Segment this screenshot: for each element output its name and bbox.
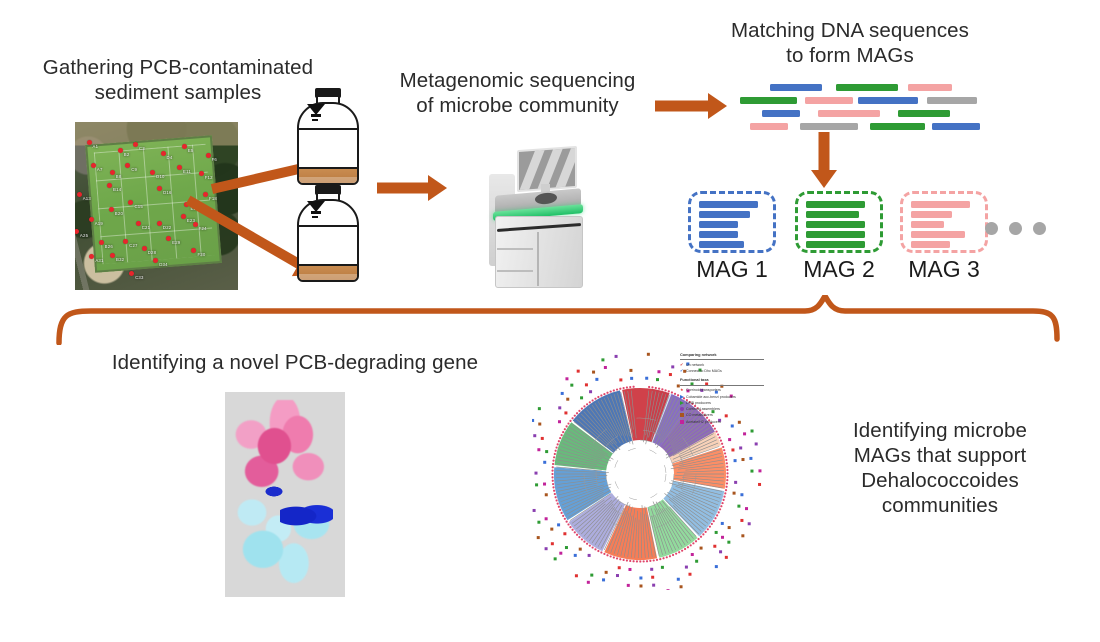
ellipsis-dot (985, 222, 998, 235)
tree-ring-marker (661, 566, 664, 569)
tree-tip-dot (606, 554, 608, 556)
legend-square-icon (680, 413, 684, 417)
tree-ring-marker (700, 547, 703, 550)
tree-tip-dot (723, 449, 725, 451)
tree-tip-dot (613, 389, 615, 391)
tree-tip-dot (552, 483, 554, 485)
tree-ring-marker (585, 383, 588, 386)
tree-tip-dot (677, 394, 679, 396)
protein-highlight-loop (261, 484, 287, 498)
tree-ring-marker (563, 532, 566, 535)
mag-label-2: MAG 2 (795, 256, 883, 283)
tree-ring-marker (551, 542, 554, 545)
mag-contig-bar (806, 221, 865, 228)
tree-ring-marker (743, 432, 746, 435)
tree-ring-marker (734, 459, 737, 462)
tree-tip-dot (623, 387, 625, 389)
tree-tip-dot (671, 391, 673, 393)
tree-tip-dot (726, 476, 728, 478)
legend-check-icon: ✔ (680, 363, 684, 367)
circular-phylogenetic-tree: Comparing network✔Un network✔Connect to … (532, 342, 767, 590)
tree-tip-dot (674, 393, 676, 395)
legend-circle-icon (680, 407, 684, 411)
tree-ring-marker (667, 589, 670, 590)
tree-tip-dot (684, 548, 686, 550)
tree-ring-marker (651, 576, 654, 579)
mag-contig-bar (911, 201, 970, 208)
tree-tip-dot (626, 559, 628, 561)
figure-canvas: Gathering PCB-contaminatedsediment sampl… (0, 0, 1100, 642)
tree-tip-dot (586, 403, 588, 405)
tree-ring-marker (564, 411, 567, 414)
more-mags-ellipsis (985, 222, 1046, 235)
tree-tip-dot (724, 452, 726, 454)
tree-ring-marker (574, 554, 577, 557)
tree-tip-dot (555, 446, 557, 448)
protein-highlight-helix (280, 499, 333, 534)
tree-tip-dot (581, 407, 583, 409)
tree-tip-dot (722, 499, 724, 501)
tree-tip-dot (562, 431, 564, 433)
tree-ring-marker (592, 371, 595, 374)
tree-tip-dot (659, 558, 661, 560)
tree-tip-dot (594, 548, 596, 550)
tree-tip-dot (592, 546, 594, 548)
tree-tip-dot (724, 492, 726, 494)
tree-ring-marker (537, 521, 540, 524)
tree-tip-dot (714, 517, 716, 519)
tree-tip-dot (619, 388, 621, 390)
tree-ring-marker (627, 584, 630, 587)
tree-tip-dot (578, 410, 580, 412)
mag-contig-bar (806, 201, 865, 208)
tree-tip-dot (695, 540, 697, 542)
tree-tip-dot (715, 430, 717, 432)
tree-ring-marker (740, 493, 743, 496)
tree-tip-dot (559, 437, 561, 439)
brace-mags-to-downstream (45, 295, 1065, 345)
tree-ring-marker (657, 370, 660, 373)
tree-ring-marker (734, 481, 737, 484)
tree-ring-marker (719, 550, 722, 553)
tree-tip-dot (583, 405, 585, 407)
tree-tip-dot (610, 555, 612, 557)
tree-ring-marker (628, 568, 631, 571)
tree-tip-dot (555, 499, 557, 501)
tree-tip-dot (643, 560, 645, 562)
tree-ring-marker (538, 423, 541, 426)
tree-tip-dot (576, 534, 578, 536)
tree-ring-marker (535, 472, 538, 475)
tree-tip-dot (716, 514, 718, 516)
legend-star-icon: ★ (680, 388, 684, 392)
mag-contig-bar (699, 231, 738, 238)
tree-ring-marker (758, 469, 761, 472)
tree-ring-marker (740, 519, 743, 522)
mag-contig-bar (699, 211, 750, 218)
tree-ring-marker (566, 398, 569, 401)
tree-ring-marker (639, 584, 642, 587)
tree-tip-dot (629, 386, 631, 388)
tree-ring-marker (721, 536, 724, 539)
tree-ring-marker (749, 457, 752, 460)
tree-tip-dot (675, 553, 677, 555)
tree-ring-marker (587, 581, 590, 584)
tree-tip-dot (578, 536, 580, 538)
tree-tip-dot (553, 456, 555, 458)
tree-ring-marker (691, 553, 694, 556)
tree-ring-marker (758, 483, 761, 486)
tree-tip-dot (623, 559, 625, 561)
tree-tip-dot (726, 472, 728, 474)
tree-tip-dot (574, 415, 576, 417)
tree-ring-marker (619, 378, 622, 381)
tree-ring-marker (755, 442, 758, 445)
tree-tip-dot (561, 434, 563, 436)
tree-ring-marker (615, 355, 618, 358)
tree-internal-arc (606, 440, 674, 508)
mag-group: MAG 1MAG 2MAG 3 (0, 0, 1100, 300)
tree-ring-marker (741, 534, 744, 537)
tree-tip-dot (610, 390, 612, 392)
tree-tip-dot (723, 496, 725, 498)
tree-tip-dot (648, 386, 650, 388)
tree-tip-dot (551, 470, 553, 472)
tree-tip-dot (666, 556, 668, 558)
pcb-degrading-enzyme-ribbon (225, 392, 345, 597)
tree-tip-dot (726, 482, 728, 484)
tree-tip-dot (569, 420, 571, 422)
tree-tip-dot (713, 520, 715, 522)
legend-label: Acetate/H2 producers (686, 419, 721, 425)
tree-tip-dot (566, 521, 568, 523)
mag-contig-bar (806, 241, 865, 248)
tree-tip-dot (551, 473, 553, 475)
mag-contig-bar (699, 221, 738, 228)
tree-tip-dot (649, 560, 651, 562)
tree-tip-dot (672, 554, 674, 556)
tree-tip-dot (581, 538, 583, 540)
tree-ring-marker (543, 461, 546, 464)
tree-ring-marker (558, 420, 561, 423)
tree-tip-dot (639, 560, 641, 562)
tree-ring-marker (731, 448, 734, 451)
tree-ring-marker (741, 458, 744, 461)
tree-ring-marker (751, 429, 754, 432)
caption-line: Dehalococcoides (861, 469, 1019, 492)
tree-tip-dot (555, 450, 557, 452)
caption-line: Identifying microbe (853, 419, 1027, 442)
tree-ring-marker (713, 545, 716, 548)
tree-tip-dot (718, 511, 720, 513)
tree-tip-dot (552, 480, 554, 482)
tree-tip-dot (571, 529, 573, 531)
legend-triangle-icon (680, 401, 684, 405)
caption-line: communities (882, 494, 998, 517)
tree-tip-dot (718, 436, 720, 438)
tree-ring-marker (739, 446, 742, 449)
tree-ring-marker (629, 369, 632, 372)
tree-ring-marker (545, 547, 548, 550)
mag-box-3[interactable] (900, 191, 988, 253)
tree-ring-marker (745, 507, 748, 510)
tree-ring-marker (715, 531, 718, 534)
tree-tip-dot (656, 559, 658, 561)
tree-tip-dot (597, 396, 599, 398)
tree-ring-marker (575, 574, 578, 577)
tree-ring-marker (558, 406, 561, 409)
tree-ring-marker (533, 434, 536, 437)
tree-tip-dot (720, 505, 722, 507)
tree-tip-dot (561, 512, 563, 514)
tree-ring-marker (554, 557, 557, 560)
tree-tip-dot (726, 462, 728, 464)
tree-tip-dot (558, 440, 560, 442)
tree-tip-dot (669, 555, 671, 557)
tree-tip-dot (603, 393, 605, 395)
tree-ring-marker (748, 522, 751, 525)
tree-ring-marker (545, 450, 548, 453)
legend-triangle-icon (680, 395, 684, 399)
tree-tip-dot (722, 446, 724, 448)
tree-ring-marker (669, 373, 672, 376)
tree-tip-dot (569, 526, 571, 528)
tree-tip-dot (681, 550, 683, 552)
ellipsis-dot (1009, 222, 1022, 235)
tree-ring-marker (677, 578, 680, 581)
tree-ring-marker (579, 548, 582, 551)
tree-tip-dot (594, 398, 596, 400)
tree-tip-dot (629, 560, 631, 562)
tree-tip-dot (567, 523, 569, 525)
tree-tip-dot (606, 392, 608, 394)
caption-step4: Identifying a novel PCB-degrading gene (55, 350, 535, 375)
tree-tip-dot (721, 443, 723, 445)
tree-tip-dot (709, 526, 711, 528)
tree-tip-dot (552, 466, 554, 468)
tree-ring-marker (605, 571, 608, 574)
tree-ring-marker (565, 377, 568, 380)
tree-tip-dot (600, 394, 602, 396)
tree-tip-dot (725, 486, 727, 488)
tree-tip-dot (552, 486, 554, 488)
mag-contig-bar (806, 231, 865, 238)
tree-tip-dot (586, 543, 588, 545)
tree-tip-dot (725, 489, 727, 491)
tree-tip-dot (721, 502, 723, 504)
tree-tip-dot (726, 479, 728, 481)
tree-ring-marker (652, 584, 655, 587)
tree-tip-dot (619, 558, 621, 560)
tree-ring-marker (545, 493, 548, 496)
mag-label-3: MAG 3 (900, 256, 988, 283)
tree-tip-dot (668, 390, 670, 392)
mag-contig-bar (699, 241, 744, 248)
legend-heading: Comparing network (680, 352, 764, 360)
tree-ring-marker (589, 390, 592, 393)
tree-tip-dot (653, 559, 655, 561)
tree-ring-marker (570, 384, 573, 387)
tree-ring-marker (639, 576, 642, 579)
tree-tip-dot (707, 528, 709, 530)
tree-tip-dot (678, 551, 680, 553)
legend-label: Connect to Dhc MAGs (686, 368, 722, 374)
tree-tip-dot (564, 428, 566, 430)
tree-tip-dot (597, 550, 599, 552)
tree-tip-dot (554, 493, 556, 495)
tree-ring-marker (537, 536, 540, 539)
tree-tip-dot (725, 456, 727, 458)
tree-ring-marker (602, 578, 605, 581)
tree-ring-marker (559, 552, 562, 555)
tree-tip-dot (574, 531, 576, 533)
mag-label-1: MAG 1 (688, 256, 776, 283)
tree-tip-dot (711, 523, 713, 525)
tree-tip-dot (571, 417, 573, 419)
tree-tip-dot (552, 460, 554, 462)
tree-tip-dot (559, 509, 561, 511)
tree-ring-marker (541, 437, 544, 440)
tree-ring-marker (616, 574, 619, 577)
mag-contig-bar (806, 211, 859, 218)
tree-ring-marker (580, 396, 583, 399)
tree-ring-marker (715, 565, 718, 568)
tree-tip-dot (562, 515, 564, 517)
tree-ring-marker (550, 528, 553, 531)
tree-ring-marker (577, 370, 580, 373)
tree-legend: Comparing network✔Un network✔Connect to … (680, 352, 764, 428)
tree-ring-marker (721, 522, 724, 525)
tree-ring-marker (545, 517, 548, 520)
tree-ring-marker (647, 353, 650, 356)
tree-ring-marker (630, 377, 633, 380)
tree-tip-dot (726, 469, 728, 471)
tree-ring-marker (537, 448, 540, 451)
tree-tip-dot (700, 536, 702, 538)
tree-ring-marker (588, 554, 591, 557)
tree-tip-dot (600, 551, 602, 553)
tree-tip-dot (661, 388, 663, 390)
tree-tip-dot (566, 425, 568, 427)
tree-ring-marker (538, 407, 541, 410)
tree-ring-marker (618, 566, 621, 569)
legend-check-icon: ✔ (680, 369, 684, 373)
tree-tip-dot (632, 560, 634, 562)
tree-ring-marker (733, 492, 736, 495)
tree-tip-dot (554, 453, 556, 455)
mag-box-2[interactable] (795, 191, 883, 253)
tree-tip-dot (725, 459, 727, 461)
tree-tip-dot (552, 463, 554, 465)
tree-tip-dot (658, 388, 660, 390)
mag-contig-bar (911, 211, 952, 218)
tree-ring-marker (595, 378, 598, 381)
tree-tip-dot (564, 518, 566, 520)
tree-ring-marker (535, 483, 538, 486)
tree-tip-dot (583, 541, 585, 543)
tree-tip-dot (632, 386, 634, 388)
tree-tip-dot (702, 533, 704, 535)
tree-ring-marker (532, 419, 534, 422)
mag-contig-bar (911, 241, 950, 248)
caption-step5: Identifying microbeMAGs that supportDeha… (795, 418, 1085, 518)
tree-tip-dot (664, 389, 666, 391)
tree-tip-dot (603, 553, 605, 555)
tree-tip-dot (616, 557, 618, 559)
tree-ring-marker (645, 377, 648, 380)
ellipsis-dot (1033, 222, 1046, 235)
tree-ring-marker (728, 526, 731, 529)
tree-ring-marker (750, 470, 753, 473)
tree-tip-dot (555, 496, 557, 498)
tree-ring-marker (565, 546, 568, 549)
tree-ring-marker (590, 574, 593, 577)
tree-ring-marker (688, 573, 691, 576)
tree-tip-dot (687, 546, 689, 548)
tree-ring-marker (685, 566, 688, 569)
caption-line: Identifying a novel PCB-degrading gene (112, 351, 478, 374)
tree-tip-dot (589, 545, 591, 547)
legend-square-icon (680, 420, 684, 424)
tree-ring-marker (601, 358, 604, 361)
tree-tip-dot (690, 544, 692, 546)
tree-ring-marker (671, 365, 674, 368)
tree-ring-marker (604, 366, 607, 369)
tree-tip-dot (592, 399, 594, 401)
mag-contig-bar (911, 221, 944, 228)
tree-tip-dot (553, 490, 555, 492)
tree-tip-dot (726, 466, 728, 468)
tree-ring-marker (680, 585, 683, 588)
tree-tip-dot (576, 412, 578, 414)
tree-tip-dot (551, 476, 553, 478)
tree-tip-dot (662, 557, 664, 559)
tree-ring-marker (650, 568, 653, 571)
tree-tip-dot (557, 503, 559, 505)
tree-tip-dot (697, 538, 699, 540)
tree-ring-marker (695, 560, 698, 563)
tree-tip-dot (717, 433, 719, 435)
mag-box-1[interactable] (688, 191, 776, 253)
tree-tip-dot (558, 506, 560, 508)
tree-tip-dot (626, 386, 628, 388)
tree-ring-marker (533, 509, 536, 512)
tree-tip-dot (557, 443, 559, 445)
caption-line: MAGs that support (854, 444, 1027, 467)
tree-tip-dot (719, 508, 721, 510)
tree-internal-arc (614, 448, 666, 500)
tree-ring-marker (737, 505, 740, 508)
tree-ring-marker (543, 483, 546, 486)
legend-heading: Functional taxa (680, 377, 764, 385)
tree-ring-marker (561, 392, 564, 395)
tree-tip-dot (655, 387, 657, 389)
tree-ring-marker (557, 523, 560, 526)
tree-tip-dot (646, 560, 648, 562)
tree-ring-marker (656, 378, 659, 381)
tree-tip-dot (567, 422, 569, 424)
tree-ring-marker (725, 556, 728, 559)
tree-ring-marker (727, 541, 730, 544)
tree-tip-dot (589, 401, 591, 403)
tree-ring-marker (728, 438, 731, 441)
tree-tip-dot (720, 440, 722, 442)
tree-tip-dot (692, 542, 694, 544)
tree-tip-dot (616, 388, 618, 390)
mag-contig-bar (911, 231, 965, 238)
legend-spacer (680, 425, 764, 428)
tree-tip-dot (636, 560, 638, 562)
